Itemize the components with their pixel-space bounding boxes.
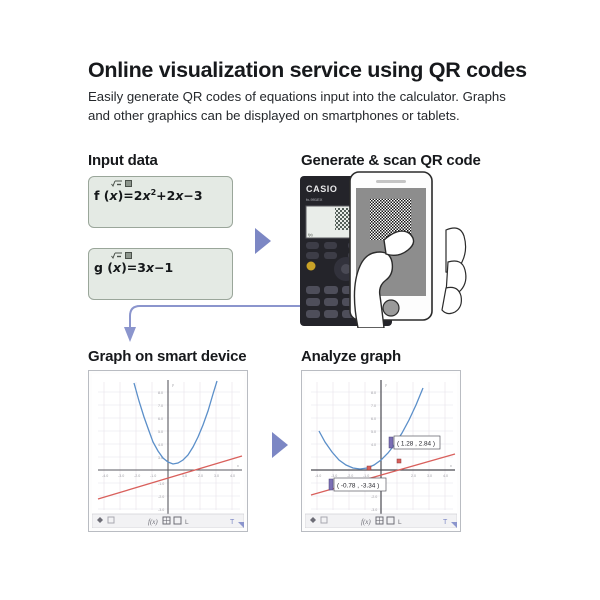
svg-text:y: y [385, 383, 387, 387]
graph-panel-analyze: -4.0-3.0 -2.0-1.0 2.0 3.04.0 8.07.0 6.05… [301, 370, 461, 532]
graph-toolbar [92, 514, 244, 528]
svg-text:y: y [172, 383, 174, 387]
function-icon: f(x) [148, 518, 158, 526]
calc-status-indicators [111, 251, 132, 260]
svg-text:-2.0: -2.0 [347, 474, 353, 478]
svg-text:7.0: 7.0 [158, 404, 163, 408]
svg-text:4.0: 4.0 [371, 443, 376, 447]
annotation-label-b: ( -0.78 , -3.34 ) [337, 483, 379, 490]
svg-text:2.0: 2.0 [198, 474, 203, 478]
section-heading-input-data: Input data [88, 152, 158, 169]
svg-text:4.0: 4.0 [158, 443, 163, 447]
infographic-page: Online visualization service using QR co… [0, 0, 600, 600]
svg-text:7.0: 7.0 [371, 404, 376, 408]
zoom-icon: L [185, 519, 189, 526]
svg-text:3.0: 3.0 [214, 474, 219, 478]
svg-text:CASIO: CASIO [306, 184, 338, 194]
svg-text:4.0: 4.0 [443, 474, 448, 478]
settings-icon: T [230, 519, 235, 526]
svg-text:fx-991EX: fx-991EX [306, 197, 323, 202]
section-heading-graph-smart-device: Graph on smart device [88, 348, 246, 365]
svg-text:-2.0: -2.0 [371, 495, 377, 499]
graph-chart-smart-device: -4.0-3.0 -2.0-1.0 1.02.0 3.04.0 8.07.0 6… [92, 374, 244, 528]
svg-text:-3.0: -3.0 [371, 508, 377, 512]
svg-text:-1.0: -1.0 [363, 474, 369, 478]
equation-input-box-f: f (x)=2x2+2x−3 [88, 176, 233, 228]
section-heading-generate-scan: Generate & scan QR code [301, 152, 481, 169]
math-mode-icon [111, 180, 123, 187]
function-icon: f(x) [361, 518, 371, 526]
calc-status-indicators [111, 179, 132, 188]
zoom-icon: L [398, 519, 402, 526]
graph-panel-smart-device: -4.0-3.0 -2.0-1.0 1.02.0 3.04.0 8.07.0 6… [88, 370, 248, 532]
svg-text:8.0: 8.0 [158, 391, 163, 395]
svg-text:4.0: 4.0 [230, 474, 235, 478]
svg-text:8.0: 8.0 [371, 391, 376, 395]
battery-icon [125, 252, 132, 259]
svg-text:f(x): f(x) [308, 233, 313, 237]
svg-text:5.0: 5.0 [371, 430, 376, 434]
svg-text:-2.0: -2.0 [158, 495, 164, 499]
page-subtitle: Easily generate QR codes of equations in… [88, 88, 508, 125]
svg-text:-2.0: -2.0 [134, 474, 140, 478]
annotation-intersection-a: ( 1.28 , 2.84 ) [389, 436, 440, 449]
svg-text:6.0: 6.0 [371, 417, 376, 421]
svg-text:-3.0: -3.0 [158, 508, 164, 512]
graph-toolbar [305, 514, 457, 528]
section-heading-analyze-graph: Analyze graph [301, 348, 401, 365]
svg-text:x: x [237, 464, 239, 468]
svg-text:-4.0: -4.0 [102, 474, 108, 478]
svg-text:6.0: 6.0 [158, 417, 163, 421]
arrow-right-to-analyze [272, 432, 288, 458]
svg-text:-1.0: -1.0 [150, 474, 156, 478]
svg-text:-3.0: -3.0 [331, 474, 337, 478]
svg-text:x: x [450, 464, 452, 468]
arrow-right-to-qr [255, 228, 271, 254]
svg-text:-3.0: -3.0 [118, 474, 124, 478]
graph-chart-analyze: -4.0-3.0 -2.0-1.0 2.0 3.04.0 8.07.0 6.05… [305, 374, 457, 528]
battery-icon [125, 180, 132, 187]
hand-graphic [442, 228, 466, 314]
math-mode-icon [111, 252, 123, 259]
settings-icon: T [443, 519, 448, 526]
svg-text:3.0: 3.0 [427, 474, 432, 478]
annotation-intersection-b: ( -0.78 , -3.34 ) [329, 478, 386, 491]
svg-text:5.0: 5.0 [158, 430, 163, 434]
svg-text:1.0: 1.0 [182, 474, 187, 478]
equation-text-f: f (x)=2x2+2x−3 [94, 188, 203, 203]
svg-text:-4.0: -4.0 [315, 474, 321, 478]
equation-text-g: g (x)=3x−1 [94, 260, 173, 275]
calculator-phone-illustration: CASIO fx-991EX f(x) QR CODE [296, 170, 520, 328]
svg-text:-1.0: -1.0 [158, 482, 164, 486]
page-title: Online visualization service using QR co… [88, 58, 538, 83]
annotation-label-a: ( 1.28 , 2.84 ) [397, 441, 435, 448]
equation-input-box-g: g (x)=3x−1 [88, 248, 233, 300]
svg-text:2.0: 2.0 [411, 474, 416, 478]
